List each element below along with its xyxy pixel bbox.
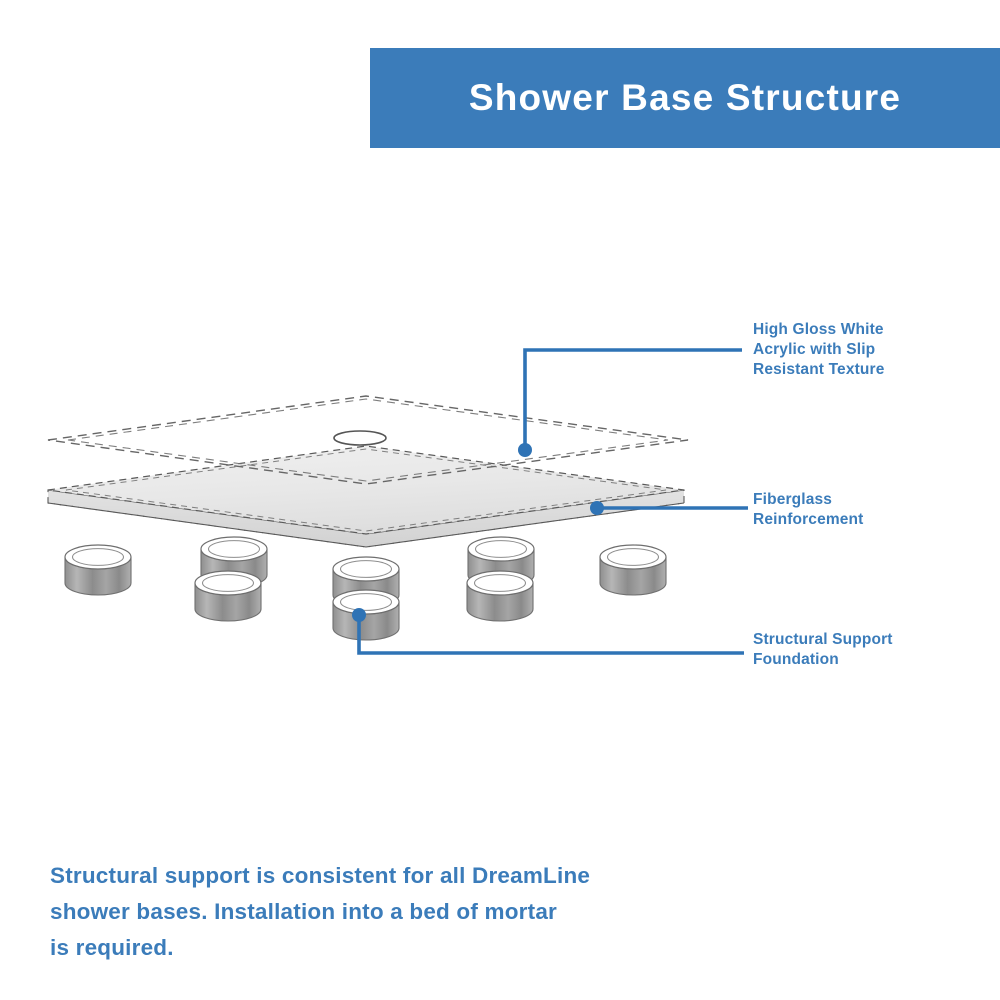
caption-line-1: Structural support is consistent for all… — [50, 858, 690, 894]
support-ring — [65, 545, 131, 595]
caption-line-2: shower bases. Installation into a bed of… — [50, 894, 690, 930]
support-ring — [600, 545, 666, 595]
callout-1-line-1: High Gloss White — [753, 320, 884, 340]
fiberglass-slab-face — [48, 446, 684, 534]
support-ring — [468, 537, 534, 587]
callout-label-fiberglass: Fiberglass Reinforcement — [753, 490, 863, 530]
support-ring — [333, 590, 399, 640]
callout-1-leader — [525, 350, 742, 450]
callout-label-acrylic: High Gloss White Acrylic with Slip Resis… — [753, 320, 884, 380]
drain-opening-icon — [334, 431, 386, 445]
callout-label-support: Structural Support Foundation — [753, 630, 893, 670]
callout-1-line-3: Resistant Texture — [753, 360, 884, 380]
support-ring — [333, 557, 399, 607]
page-title: Shower Base Structure — [469, 77, 901, 119]
callout-1-dot — [518, 443, 532, 457]
acrylic-panel-outline — [48, 396, 688, 484]
support-ring — [195, 571, 261, 621]
support-ring-group-front — [333, 590, 399, 640]
callout-2-line-1: Fiberglass — [753, 490, 863, 510]
support-ring-group — [65, 537, 666, 621]
support-ring — [467, 571, 533, 621]
title-banner: Shower Base Structure — [370, 48, 1000, 148]
acrylic-top-layer — [48, 396, 688, 484]
caption-line-3: is required. — [50, 930, 690, 966]
support-ring — [201, 537, 267, 587]
callout-1-line-2: Acrylic with Slip — [753, 340, 884, 360]
callout-3-line-1: Structural Support — [753, 630, 893, 650]
callout-2-dot — [590, 501, 604, 515]
callout-3-dot — [352, 608, 366, 622]
callout-3-line-2: Foundation — [753, 650, 893, 670]
fiberglass-slab-layer — [48, 446, 684, 547]
callout-3-leader — [359, 615, 744, 653]
page-root: Shower Base Structure — [0, 0, 1000, 1000]
callout-leaders — [352, 350, 748, 653]
callout-2-line-2: Reinforcement — [753, 510, 863, 530]
footer-caption: Structural support is consistent for all… — [50, 858, 690, 966]
